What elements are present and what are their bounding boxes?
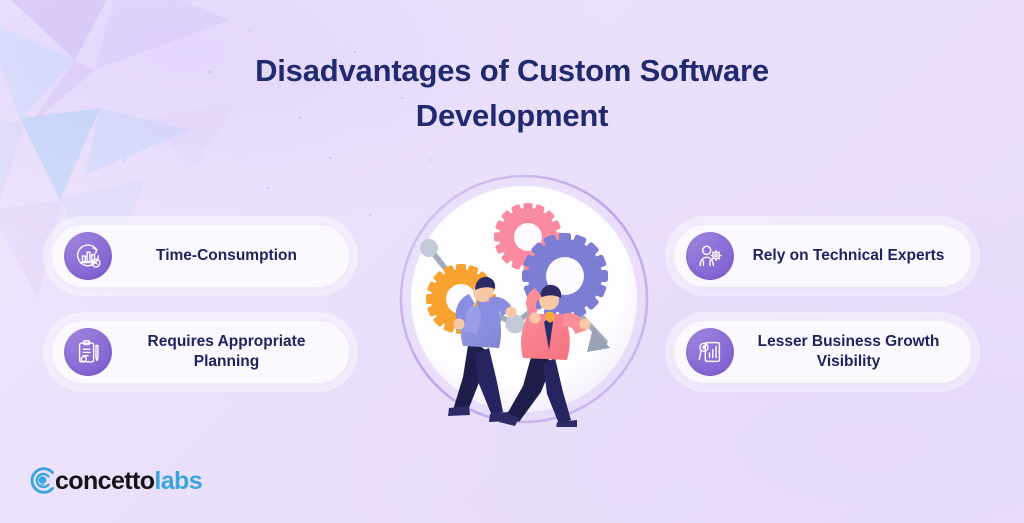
card-requires-appropriate-planning[interactable]: Requires Appropriate Planning	[52, 321, 349, 383]
concettolabs-logo[interactable]: concettolabs	[28, 466, 206, 495]
chart-refresh-clock-icon	[64, 232, 112, 280]
bulb-c-mark-icon	[28, 466, 57, 495]
person-gear-icon	[686, 232, 734, 280]
logo-text-concetto: concetto	[55, 467, 154, 495]
card-rely-on-technical-experts[interactable]: Rely on Technical Experts	[674, 225, 971, 287]
title-line-1: Disadvantages of Custom Software	[255, 53, 769, 88]
card-lesser-business-growth-visibility[interactable]: Lesser Business Growth Visibility	[674, 321, 971, 383]
magnifier-chart-icon	[686, 328, 734, 376]
page-title: Disadvantages of Custom Software Develop…	[0, 48, 1024, 139]
title-line-2: Development	[0, 93, 1024, 138]
clipboard-pen-icon	[64, 328, 112, 376]
card-label: Rely on Technical Experts	[734, 246, 971, 266]
card-label: Requires Appropriate Planning	[112, 332, 349, 373]
logo-text-labs: labs	[154, 467, 202, 495]
logo-wordmark: concettolabs	[55, 469, 202, 494]
card-label: Time-Consumption	[112, 246, 349, 266]
card-label: Lesser Business Growth Visibility	[734, 332, 971, 373]
illustration-two-people-lifting-gears	[397, 172, 652, 427]
card-time-consumption[interactable]: Time-Consumption	[52, 225, 349, 287]
